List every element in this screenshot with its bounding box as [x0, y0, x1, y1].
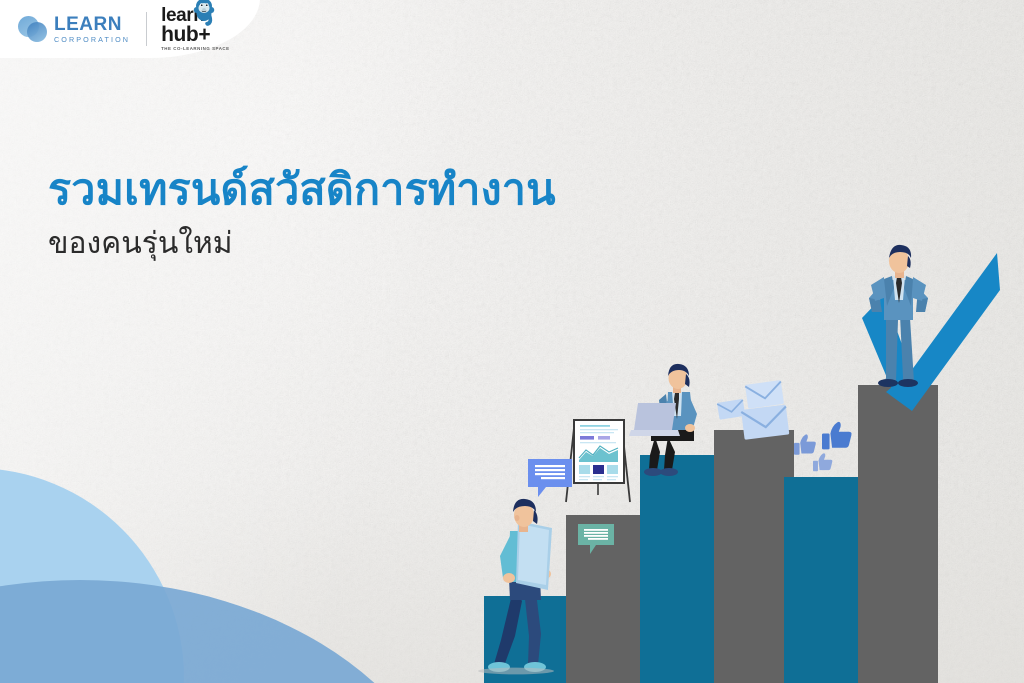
- bar-4: [714, 430, 794, 683]
- blue-speech-bubble: [528, 459, 572, 497]
- learnhub-logo[interactable]: learn hub+ THE CO-LEARNING SPACE: [161, 6, 230, 51]
- learnhub-logo-tagline: THE CO-LEARNING SPACE: [161, 47, 230, 51]
- bar-3: [640, 455, 720, 683]
- headline-main: รวมเทรนด์สวัสดิการทำงาน: [48, 166, 728, 216]
- monkey-mascot-icon: [191, 0, 219, 29]
- bar-6: [858, 385, 938, 683]
- poster-canvas: LEARN CORPORATION learn h: [0, 0, 1024, 683]
- logo-divider: [146, 12, 147, 46]
- thumbs-up-icons: [794, 422, 852, 471]
- headline-block: รวมเทรนด์สวัสดิการทำงาน ของคนรุ่นใหม่: [48, 166, 728, 263]
- flip-chart-easel: [566, 419, 630, 502]
- learn-corporation-logo[interactable]: LEARN CORPORATION: [18, 14, 130, 44]
- headline-sub: ของคนรุ่นใหม่: [48, 224, 728, 263]
- brand-bar: LEARN CORPORATION learn h: [0, 0, 260, 58]
- learn-logo-word: LEARN: [54, 15, 130, 34]
- learn-corporation-circles-icon: [18, 14, 48, 44]
- learn-logo-subword: CORPORATION: [54, 36, 130, 43]
- bar-5: [784, 477, 864, 683]
- bar-chart-illustration: [0, 0, 1024, 683]
